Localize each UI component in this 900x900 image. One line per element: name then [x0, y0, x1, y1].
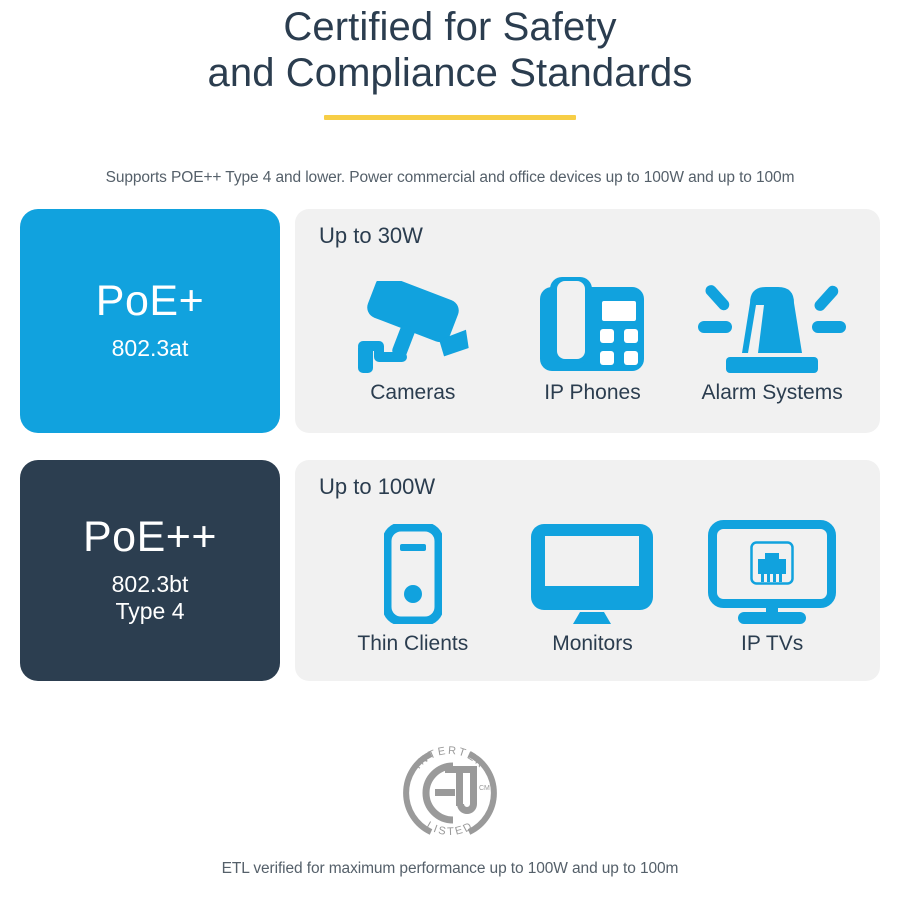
thin-client-tower-icon — [384, 516, 442, 624]
poe-plusplus-row: PoE++ 802.3bt Type 4 Up to 100W Thin Cli… — [20, 460, 880, 681]
panel-power-title: Up to 100W — [319, 476, 866, 498]
device-item-thin-clients: Thin Clients — [323, 516, 503, 654]
badge-standard: 802.3bt — [112, 571, 189, 598]
device-label: Monitors — [552, 633, 633, 654]
device-item-cameras: Cameras — [323, 269, 503, 403]
device-label: Cameras — [370, 382, 455, 403]
badge-standard: 802.3at — [112, 335, 189, 362]
device-label: IP TVs — [741, 633, 803, 654]
poe-plus-row: PoE+ 802.3at Up to 30W — [20, 209, 880, 433]
device-label: IP Phones — [544, 382, 641, 403]
page-title-line-2: and Compliance Standards — [0, 50, 900, 96]
poe-plus-badge: PoE+ 802.3at — [20, 209, 280, 433]
etl-superscript: CM — [479, 785, 490, 792]
badge-type: Type 4 — [115, 598, 184, 625]
device-item-alarm-systems: Alarm Systems — [682, 269, 862, 403]
accent-divider — [324, 115, 576, 120]
page-title-line-1: Certified for Safety — [0, 4, 900, 50]
device-label: Thin Clients — [357, 633, 468, 654]
panel-power-title: Up to 30W — [319, 225, 866, 247]
badge-title: PoE++ — [83, 516, 217, 559]
page-subtitle: Supports POE++ Type 4 and lower. Power c… — [0, 169, 900, 187]
device-icon-row: Cameras IP Phones — [319, 253, 866, 403]
page-header: Certified for Safety and Compliance Stan… — [0, 0, 900, 120]
poe-plusplus-devices-panel: Up to 100W Thin Clients — [295, 460, 880, 681]
device-label: Alarm Systems — [702, 382, 843, 403]
etl-intertek-listed-logo: CM INTERTEK LISTED — [391, 734, 509, 846]
etl-footer-note: ETL verified for maximum performance up … — [0, 860, 900, 900]
desk-phone-icon — [538, 269, 646, 373]
device-item-ip-tvs: IP TVs — [682, 516, 862, 654]
device-item-monitors: Monitors — [503, 516, 683, 654]
poe-plusplus-badge: PoE++ 802.3bt Type 4 — [20, 460, 280, 681]
monitor-icon — [529, 516, 655, 624]
badge-title: PoE+ — [96, 280, 204, 323]
device-item-ip-phones: IP Phones — [503, 269, 683, 403]
security-camera-icon — [353, 269, 473, 373]
siren-icon — [696, 269, 848, 373]
poe-plus-devices-panel: Up to 30W Cameras — [295, 209, 880, 433]
etl-logo-wrap: CM INTERTEK LISTED — [0, 734, 900, 846]
page-footer: CM INTERTEK LISTED ETL verified for maxi… — [0, 734, 900, 900]
device-icon-row: Thin Clients Monitors — [319, 504, 866, 654]
tv-rj45-icon — [708, 516, 836, 624]
